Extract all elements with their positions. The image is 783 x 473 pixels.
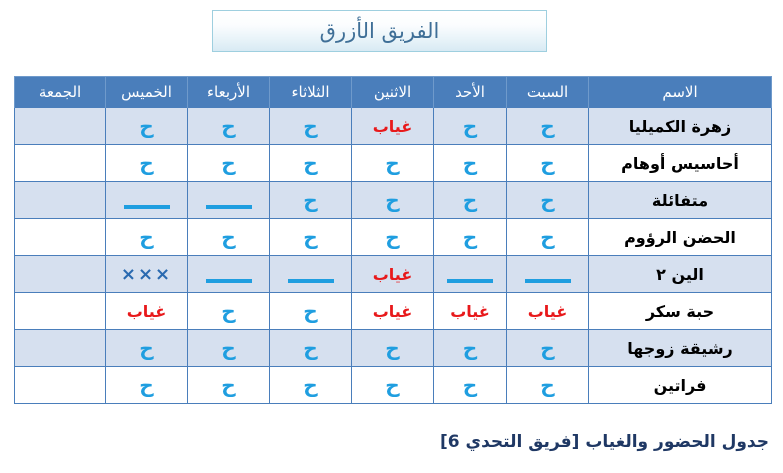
- student-name-cell: زهرة الكميليا: [589, 108, 772, 145]
- table-header-row: الاسم السبت الأحد الاثنين الثلاثاء الأرب…: [15, 77, 772, 108]
- dash-mark: [206, 205, 252, 209]
- attendance-cell-sunday[interactable]: ح: [434, 108, 507, 145]
- attendance-cell-tuesday[interactable]: ح: [270, 145, 352, 182]
- attendance-cell-monday[interactable]: غياب: [352, 108, 434, 145]
- attendance-cell-tuesday[interactable]: ح: [270, 108, 352, 145]
- attendance-cell-tuesday[interactable]: ح: [270, 182, 352, 219]
- attendance-cell-thursday[interactable]: ح: [106, 108, 188, 145]
- attendance-cell-sunday[interactable]: ح: [434, 182, 507, 219]
- attendance-cell-saturday[interactable]: ح: [507, 330, 589, 367]
- attendance-cell-sunday[interactable]: غياب: [434, 293, 507, 330]
- empty-mark: [60, 242, 61, 243]
- column-header-sunday: الأحد: [434, 77, 507, 108]
- attendance-table: الاسم السبت الأحد الاثنين الثلاثاء الأرب…: [14, 76, 772, 404]
- attendance-cell-wednesday[interactable]: ح: [188, 293, 270, 330]
- footer-caption: جدول الحضور والغياب [فريق التحدي 6]: [440, 432, 769, 452]
- attendance-cell-tuesday[interactable]: ح: [270, 330, 352, 367]
- attendance-cell-sunday[interactable]: ح: [434, 145, 507, 182]
- attendance-cell-wednesday[interactable]: [188, 256, 270, 293]
- attendance-cell-friday[interactable]: [15, 145, 106, 182]
- table-body: زهرة الكميلياححغيابحححأحاسيس أوهامحححححح…: [15, 108, 772, 404]
- present-mark: ح: [221, 301, 235, 321]
- attendance-cell-thursday[interactable]: ح: [106, 145, 188, 182]
- present-mark: ح: [385, 153, 399, 173]
- attendance-cell-thursday[interactable]: ح: [106, 219, 188, 256]
- table-row: رشيقة زوجهاحححححح: [15, 330, 772, 367]
- student-name-cell: حبة سكر: [589, 293, 772, 330]
- student-name-cell: متفائلة: [589, 182, 772, 219]
- empty-mark: [60, 205, 61, 206]
- present-mark: ح: [303, 338, 317, 358]
- attendance-cell-monday[interactable]: ح: [352, 367, 434, 404]
- table-row: أحاسيس أوهامحححححح: [15, 145, 772, 182]
- attendance-cell-tuesday[interactable]: ح: [270, 367, 352, 404]
- present-mark: ح: [221, 338, 235, 358]
- attendance-cell-monday[interactable]: غياب: [352, 293, 434, 330]
- present-mark: ح: [463, 338, 477, 358]
- table-row: فراتينحححححح: [15, 367, 772, 404]
- present-mark: ح: [303, 153, 317, 173]
- present-mark: ح: [303, 116, 317, 136]
- attendance-cell-wednesday[interactable]: ح: [188, 145, 270, 182]
- present-mark: ح: [139, 153, 153, 173]
- column-header-saturday: السبت: [507, 77, 589, 108]
- attendance-cell-wednesday[interactable]: ح: [188, 367, 270, 404]
- attendance-cell-friday[interactable]: [15, 182, 106, 219]
- attendance-cell-sunday[interactable]: ح: [434, 330, 507, 367]
- attendance-cell-tuesday[interactable]: [270, 256, 352, 293]
- student-name-cell: أحاسيس أوهام: [589, 145, 772, 182]
- attendance-cell-wednesday[interactable]: ح: [188, 219, 270, 256]
- attendance-cell-sunday[interactable]: ح: [434, 219, 507, 256]
- present-mark: ح: [385, 227, 399, 247]
- absent-mark: غياب: [373, 267, 413, 283]
- present-mark: ح: [463, 116, 477, 136]
- attendance-cell-sunday[interactable]: [434, 256, 507, 293]
- attendance-cell-friday[interactable]: [15, 219, 106, 256]
- dash-mark: [206, 279, 252, 283]
- present-mark: ح: [463, 190, 477, 210]
- table-row: متفائلةحححح: [15, 182, 772, 219]
- empty-mark: [60, 390, 61, 391]
- attendance-cell-saturday[interactable]: ح: [507, 182, 589, 219]
- attendance-cell-thursday[interactable]: [106, 182, 188, 219]
- present-mark: ح: [540, 116, 554, 136]
- student-name-cell: فراتين: [589, 367, 772, 404]
- empty-mark: [60, 279, 61, 280]
- attendance-cell-saturday[interactable]: ح: [507, 367, 589, 404]
- absent-mark: غياب: [373, 304, 413, 320]
- attendance-cell-wednesday[interactable]: [188, 182, 270, 219]
- empty-mark: [60, 316, 61, 317]
- attendance-cell-monday[interactable]: غياب: [352, 256, 434, 293]
- dash-mark: [447, 279, 493, 283]
- absent-mark: غياب: [373, 119, 413, 135]
- dash-mark: [288, 279, 334, 283]
- present-mark: ح: [303, 227, 317, 247]
- attendance-cell-saturday[interactable]: [507, 256, 589, 293]
- present-mark: ح: [221, 375, 235, 395]
- present-mark: ح: [463, 153, 477, 173]
- student-name-cell: الين ٢: [589, 256, 772, 293]
- column-header-monday: الاثنين: [352, 77, 434, 108]
- present-mark: ح: [303, 375, 317, 395]
- attendance-cell-monday[interactable]: ح: [352, 145, 434, 182]
- column-header-wednesday: الأربعاء: [188, 77, 270, 108]
- table-row: حبة سكرغيابغيابغيابححغياب: [15, 293, 772, 330]
- present-mark: ح: [540, 338, 554, 358]
- present-mark: ح: [540, 227, 554, 247]
- attendance-cell-monday[interactable]: ح: [352, 219, 434, 256]
- student-name-cell: رشيقة زوجها: [589, 330, 772, 367]
- attendance-cell-wednesday[interactable]: ح: [188, 108, 270, 145]
- attendance-cell-monday[interactable]: ح: [352, 330, 434, 367]
- attendance-cell-thursday[interactable]: ح: [106, 330, 188, 367]
- table-header: الاسم السبت الأحد الاثنين الثلاثاء الأرب…: [15, 77, 772, 108]
- attendance-cell-friday[interactable]: [15, 367, 106, 404]
- present-mark: ح: [385, 375, 399, 395]
- attendance-cell-thursday[interactable]: ×××: [106, 256, 188, 293]
- table-row: الحضن الرؤومحححححح: [15, 219, 772, 256]
- present-mark: ح: [221, 153, 235, 173]
- present-mark: ح: [463, 375, 477, 395]
- attendance-cell-saturday[interactable]: غياب: [507, 293, 589, 330]
- column-header-thursday: الخميس: [106, 77, 188, 108]
- column-header-name: الاسم: [589, 77, 772, 108]
- present-mark: ح: [303, 190, 317, 210]
- empty-mark: [60, 131, 61, 132]
- present-mark: ح: [463, 227, 477, 247]
- attendance-cell-wednesday[interactable]: ح: [188, 330, 270, 367]
- xxx-mark: ×××: [121, 266, 172, 284]
- present-mark: ح: [540, 375, 554, 395]
- present-mark: ح: [139, 375, 153, 395]
- present-mark: ح: [540, 153, 554, 173]
- table-row: الين ٢غياب×××: [15, 256, 772, 293]
- team-title-text: الفريق الأزرق: [320, 21, 440, 42]
- team-title-banner: الفريق الأزرق: [212, 10, 547, 52]
- attendance-cell-friday[interactable]: [15, 256, 106, 293]
- attendance-cell-saturday[interactable]: ح: [507, 145, 589, 182]
- attendance-cell-tuesday[interactable]: ح: [270, 293, 352, 330]
- present-mark: ح: [385, 190, 399, 210]
- absent-mark: غياب: [127, 304, 167, 320]
- attendance-cell-saturday[interactable]: ح: [507, 108, 589, 145]
- present-mark: ح: [139, 227, 153, 247]
- dash-mark: [525, 279, 571, 283]
- column-header-tuesday: الثلاثاء: [270, 77, 352, 108]
- empty-mark: [60, 168, 61, 169]
- attendance-cell-friday[interactable]: [15, 108, 106, 145]
- empty-mark: [60, 353, 61, 354]
- present-mark: ح: [221, 227, 235, 247]
- dash-mark: [124, 205, 170, 209]
- attendance-cell-saturday[interactable]: ح: [507, 219, 589, 256]
- present-mark: ح: [221, 116, 235, 136]
- attendance-cell-tuesday[interactable]: ح: [270, 219, 352, 256]
- attendance-cell-monday[interactable]: ح: [352, 182, 434, 219]
- attendance-cell-sunday[interactable]: ح: [434, 367, 507, 404]
- attendance-cell-thursday[interactable]: غياب: [106, 293, 188, 330]
- present-mark: ح: [385, 338, 399, 358]
- attendance-cell-friday[interactable]: [15, 293, 106, 330]
- table-row: زهرة الكميلياححغيابححح: [15, 108, 772, 145]
- student-name-cell: الحضن الرؤوم: [589, 219, 772, 256]
- absent-mark: غياب: [450, 304, 490, 320]
- absent-mark: غياب: [528, 304, 568, 320]
- attendance-cell-friday[interactable]: [15, 330, 106, 367]
- present-mark: ح: [540, 190, 554, 210]
- attendance-cell-thursday[interactable]: ح: [106, 367, 188, 404]
- column-header-friday: الجمعة: [15, 77, 106, 108]
- present-mark: ح: [139, 338, 153, 358]
- present-mark: ح: [139, 116, 153, 136]
- present-mark: ح: [303, 301, 317, 321]
